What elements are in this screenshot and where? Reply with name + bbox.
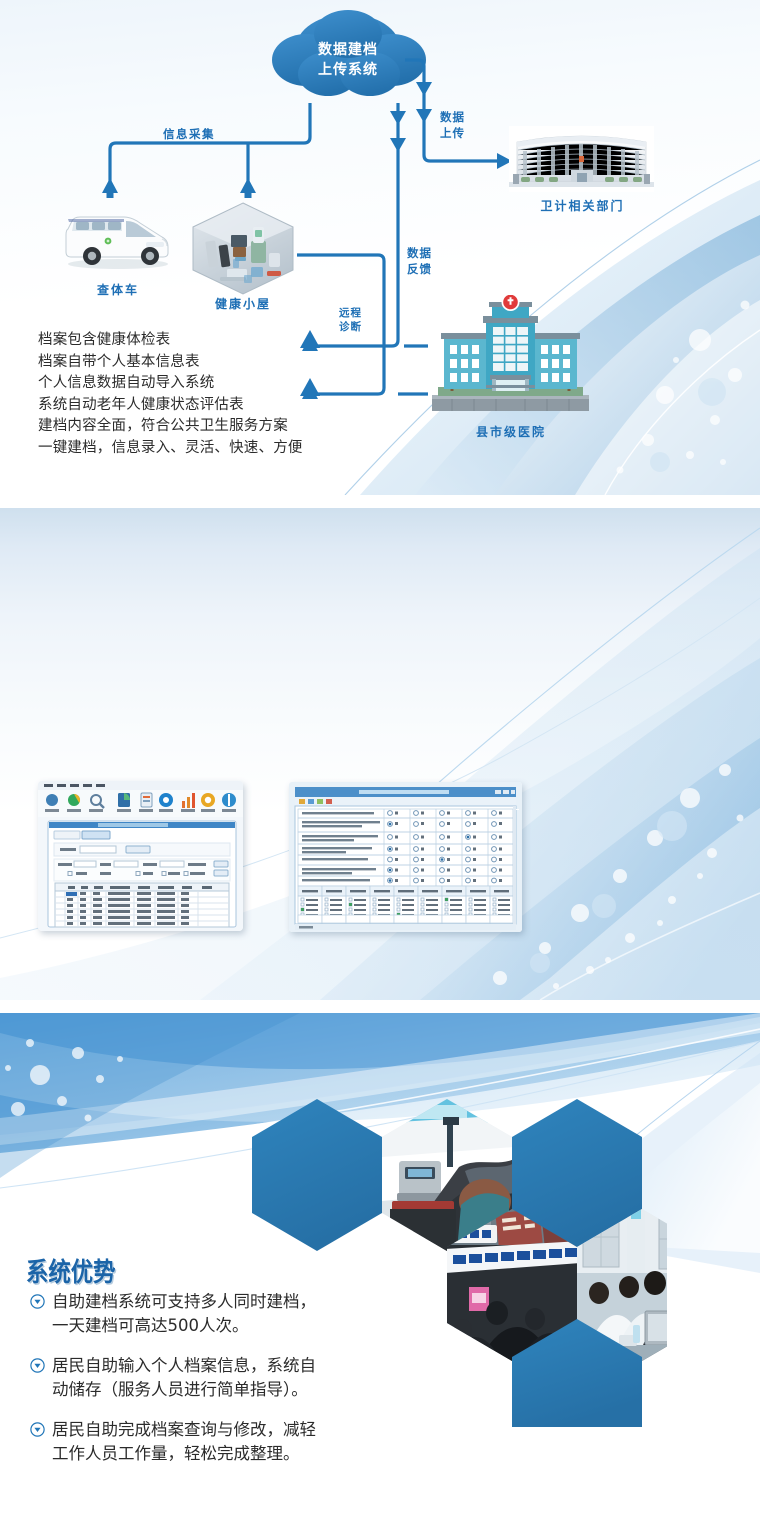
label-data-upload-l1: 数据 xyxy=(440,111,465,127)
bullet-item: 自助建档系统可支持多人同时建档， 一天建档可高达500人次。 xyxy=(30,1290,450,1338)
medical-examination-van-image xyxy=(62,209,174,269)
label-data-feedback: 数据 反馈 xyxy=(407,247,432,278)
county-hospital-image xyxy=(428,295,593,419)
cloud-label-line2: 上传系统 xyxy=(318,59,378,79)
section3-title: 系统优势 xyxy=(26,1252,115,1289)
bullet-text: 居民自助完成档案查询与修改，减轻 工作人员工作量，轻松完成整理。 xyxy=(52,1418,316,1466)
label-data-feedback-l2: 反馈 xyxy=(407,263,432,279)
cloud-label-line1: 数据建档 xyxy=(318,39,378,59)
feature-item: 一键建档，信息录入、灵活、快速、方便 xyxy=(38,438,303,460)
label-data-feedback-l1: 数据 xyxy=(407,247,432,263)
label-info-collection: 信息采集 xyxy=(163,128,215,144)
feature-item: 系统自动老年人健康状态评估表 xyxy=(38,395,303,417)
feature-item: 建档内容全面，符合公共卫生服务方案 xyxy=(38,416,303,438)
label-data-upload-l2: 上传 xyxy=(440,127,465,143)
section3-bullet-list: 自助建档系统可支持多人同时建档， 一天建档可高达500人次。 居民自助输入个人档… xyxy=(30,1290,450,1466)
label-remote-diagnosis: 远程 诊断 xyxy=(339,306,362,334)
caption-cabin: 健康小屋 xyxy=(185,295,301,312)
label-remote-diagnosis-l2: 诊断 xyxy=(339,320,362,334)
caption-hospital: 县市级医院 xyxy=(425,423,597,440)
bullet-text: 自助建档系统可支持多人同时建档， 一天建档可高达500人次。 xyxy=(52,1290,316,1338)
label-data-upload: 数据 上传 xyxy=(440,111,465,142)
section-workflow-diagram: 数据建档 上传系统 信息采集 数据 上传 数据 反馈 远程 诊断 xyxy=(0,0,760,495)
hex-solid-top-left xyxy=(252,1099,382,1251)
feature-item: 个人信息数据自动导入系统 xyxy=(38,373,303,395)
section-divider-2 xyxy=(0,1000,760,1013)
section-divider-1 xyxy=(0,495,760,508)
feature-list: 档案包含健康体检表 档案自带个人基本信息表 个人信息数据自动导入系统 系统自动老… xyxy=(38,330,303,459)
cloud-node: 数据建档 上传系统 xyxy=(262,8,434,106)
brochure-page: 数据建档 上传系统 信息采集 数据 上传 数据 反馈 远程 诊断 xyxy=(0,0,760,1521)
feature-item: 档案自带个人基本信息表 xyxy=(38,352,303,374)
app-screenshot-archive-query[interactable] xyxy=(38,781,243,931)
chevron-down-circle-icon xyxy=(30,1358,45,1373)
feature-item: 档案包含健康体检表 xyxy=(38,330,303,352)
health-authority-building-image xyxy=(509,126,654,192)
bullet-text: 居民自助输入个人档案信息，系统自 动储存（服务人员进行简单指导）。 xyxy=(52,1354,316,1402)
caption-gov: 卫计相关部门 xyxy=(505,197,660,214)
bullet-item: 居民自助输入个人档案信息，系统自 动储存（服务人员进行简单指导）。 xyxy=(30,1354,450,1402)
app-screenshot-tcm-questionnaire[interactable] xyxy=(289,782,522,932)
health-cabin-image xyxy=(189,201,297,296)
label-remote-diagnosis-l1: 远程 xyxy=(339,306,362,320)
chevron-down-circle-icon xyxy=(30,1422,45,1437)
cloud-label: 数据建档 上传系统 xyxy=(262,8,434,106)
bullet-item: 居民自助完成档案查询与修改，减轻 工作人员工作量，轻松完成整理。 xyxy=(30,1418,450,1466)
caption-van: 查体车 xyxy=(62,281,174,298)
chevron-down-circle-icon xyxy=(30,1294,45,1309)
